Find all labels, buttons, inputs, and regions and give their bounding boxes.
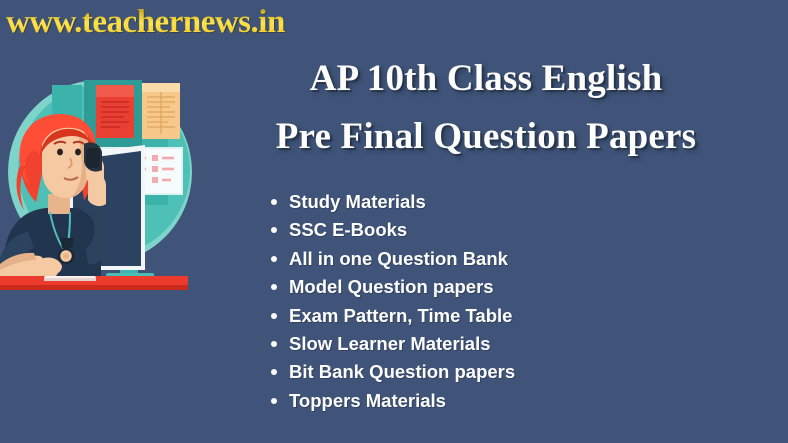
list-item: Toppers Materials (268, 387, 515, 415)
list-item: Model Question papers (268, 273, 515, 301)
orange-document (142, 83, 180, 139)
watermark-site-url: www.teachernews.in (6, 2, 285, 42)
woman-on-phone-at-desk-illustration (0, 52, 200, 290)
title-line-1: AP 10th Class English (188, 50, 784, 108)
list-item: All in one Question Bank (268, 245, 515, 273)
list-item: SSC E-Books (268, 216, 515, 244)
red-document (96, 85, 134, 138)
list-item: Bit Bank Question papers (268, 358, 515, 386)
list-item: Exam Pattern, Time Table (268, 302, 515, 330)
list-item: Slow Learner Materials (268, 330, 515, 358)
list-item: Study Materials (268, 188, 515, 216)
title-line-2: Pre Final Question Papers (188, 108, 784, 166)
poster-canvas: www.teachernews.in www.teachernews.in (0, 0, 788, 443)
page-title: AP 10th Class English Pre Final Question… (188, 50, 784, 166)
feature-list: Study MaterialsSSC E-BooksAll in one Que… (268, 188, 515, 415)
telephone-handset (84, 142, 102, 171)
